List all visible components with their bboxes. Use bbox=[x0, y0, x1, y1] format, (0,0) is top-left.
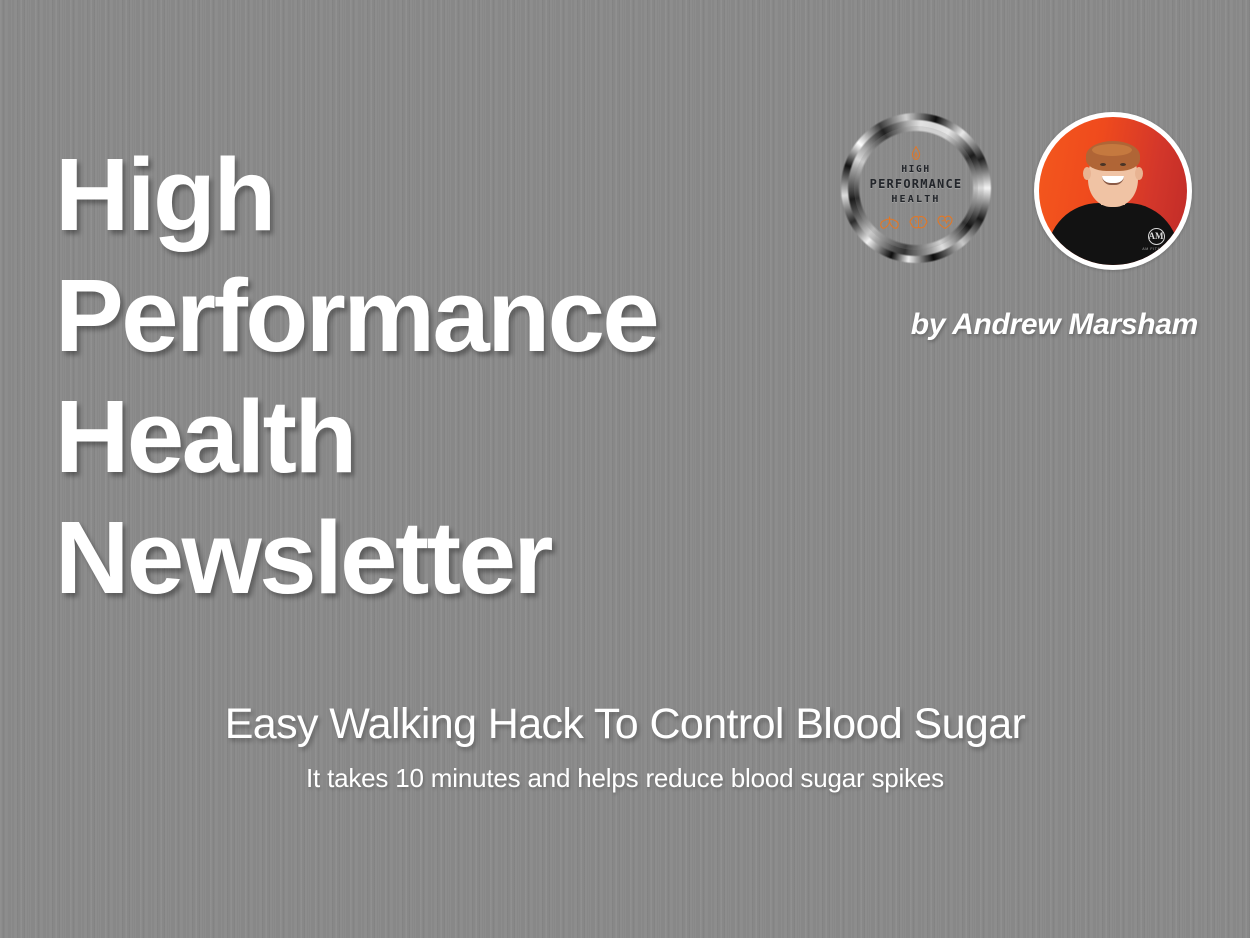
avatar-photo: AM AM FITNESS bbox=[1039, 117, 1187, 265]
newsletter-cover: High Performance Health Newsletter HIGH … bbox=[0, 0, 1250, 938]
byline: by Andrew Marsham bbox=[840, 308, 1198, 342]
article-block: Easy Walking Hack To Control Blood Sugar… bbox=[0, 700, 1250, 794]
article-subheadline: It takes 10 minutes and helps reduce blo… bbox=[0, 763, 1250, 794]
flame-icon bbox=[910, 146, 922, 160]
lungs-icon bbox=[879, 215, 900, 230]
logo-face: HIGH PERFORMANCE HEALTH bbox=[854, 126, 978, 250]
brain-icon bbox=[909, 215, 928, 230]
avatar-eye-left bbox=[1100, 163, 1106, 166]
title-line-4: Newsletter bbox=[55, 497, 815, 618]
shirt-logo: AM AM FITNESS bbox=[1141, 228, 1171, 251]
heart-icon bbox=[937, 215, 953, 230]
logo-text-line-3: HEALTH bbox=[891, 194, 940, 207]
logo-text-line-2: PERFORMANCE bbox=[870, 177, 963, 192]
high-performance-health-logo: HIGH PERFORMANCE HEALTH bbox=[840, 112, 992, 264]
logo-text-line-1: HIGH bbox=[901, 164, 930, 176]
title-line-1: High bbox=[55, 134, 815, 255]
article-headline: Easy Walking Hack To Control Blood Sugar bbox=[0, 700, 1250, 749]
title-line-2: Performance bbox=[55, 255, 815, 376]
badge-row: HIGH PERFORMANCE HEALTH bbox=[840, 112, 1192, 270]
brand-cluster: HIGH PERFORMANCE HEALTH bbox=[840, 112, 1198, 347]
avatar-hair bbox=[1086, 141, 1140, 171]
avatar-ear-right bbox=[1135, 167, 1143, 180]
shirt-monogram: AM bbox=[1148, 228, 1165, 245]
avatar: AM AM FITNESS bbox=[1034, 112, 1192, 270]
page-title: High Performance Health Newsletter bbox=[55, 134, 815, 618]
shirt-wordmark: AM FITNESS bbox=[1141, 247, 1171, 251]
logo-organ-icons bbox=[879, 215, 953, 230]
title-line-3: Health bbox=[55, 376, 815, 497]
